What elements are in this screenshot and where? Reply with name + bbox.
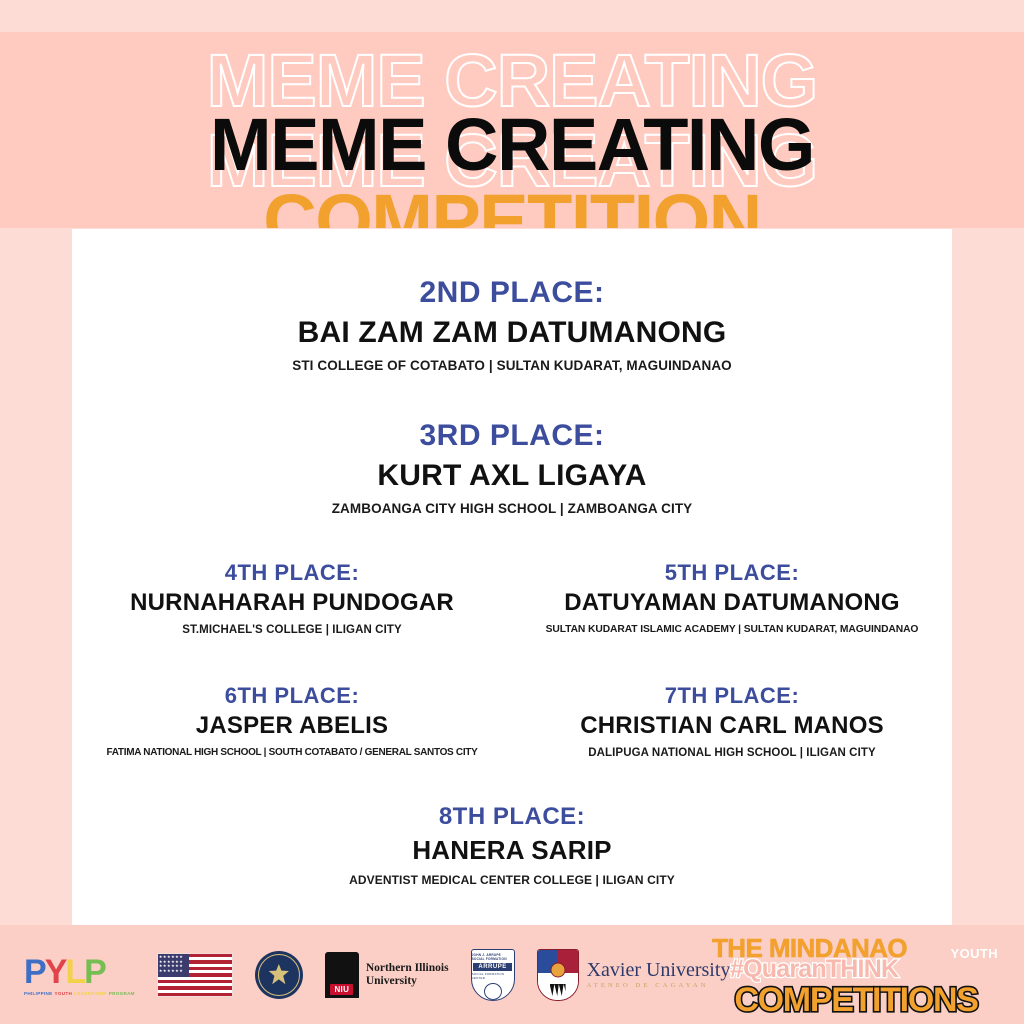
result-row-8th: 8TH PLACE: HANERA SARIP ADVENTIST MEDICA… (72, 804, 952, 888)
rank-label-4th: 4TH PLACE: (72, 561, 512, 584)
pylp-word-program: PROGRAM (109, 991, 135, 996)
winner-school-7th: DALIPUGA NATIONAL HIGH SCHOOL | ILIGAN C… (512, 747, 952, 760)
rank-label-8th: 8TH PLACE: (72, 804, 952, 829)
winner-name-3rd: KURT AXL LIGAYA (72, 459, 952, 492)
result-row-7th: 7TH PLACE: CHRISTIAN CARL MANOS DALIPUGA… (512, 684, 952, 761)
winner-school-6th: FATIMA NATIONAL HIGH SCHOOL | SOUTH COTA… (72, 747, 512, 759)
pylp-letter-p2: P (84, 955, 105, 989)
niu-line2: University (366, 975, 449, 988)
brand-line-quaranthink: #QuaranTHINK (730, 957, 1024, 982)
arrupe-top-text: JOHN J. ARRUPE SOCIAL FORMATION (472, 953, 514, 961)
northern-illinois-university-logo: NIU Northern Illinois University (325, 952, 449, 998)
niu-badge: NIU (330, 984, 353, 995)
pylp-subtitle: PHILIPPINE YOUTH LEADERSHIP PROGRAM (24, 991, 135, 996)
niu-wordmark: Northern Illinois University (366, 962, 449, 988)
niu-line1: Northern Illinois (366, 962, 449, 975)
poster-title-line1: MEME CREATING (0, 108, 1024, 182)
pylp-word-youth: YOUTH (55, 991, 73, 996)
rank-label-6th: 6TH PLACE: (72, 684, 512, 707)
rank-label-7th: 7TH PLACE: (512, 684, 952, 707)
result-row-6th: 6TH PLACE: JASPER ABELIS FATIMA NATIONAL… (72, 684, 512, 759)
result-row-4th: 4TH PLACE: NURNAHARAH PUNDOGAR ST.MICHAE… (72, 561, 512, 638)
result-row-3rd: 3RD PLACE: KURT AXL LIGAYA ZAMBOANGA CIT… (72, 420, 952, 516)
eagle-icon (268, 964, 290, 986)
winner-name-4th: NURNAHARAH PUNDOGAR (72, 590, 512, 616)
winner-name-6th: JASPER ABELIS (72, 713, 512, 739)
arrupe-sub: SOCIAL FORMATION CENTER (472, 972, 514, 980)
result-row-5th: 5TH PLACE: DATUYAMAN DATUMANONG SULTAN K… (512, 561, 952, 636)
xavier-shield-icon (537, 949, 579, 1001)
brand-line-competitions: COMPETITIONS (706, 983, 1006, 1017)
us-flag-canton: ★★★★★★★★★★★★★★★★★★★★★★★★ (158, 954, 189, 977)
rank-label-3rd: 3RD PLACE: (72, 420, 952, 452)
results-panel: 2ND PLACE: BAI ZAM ZAM DATUMANONG STI CO… (72, 229, 952, 925)
arrupe-crest-icon (484, 983, 502, 1000)
pylp-letter-y: Y (45, 955, 66, 989)
header-banner: MEME CREATING MEME CREATING MEME CREATIN… (0, 32, 1024, 228)
pylp-letter-l: L (65, 955, 84, 989)
pylp-letters: P Y L P (24, 955, 105, 989)
winner-name-8th: HANERA SARIP (72, 836, 952, 865)
pylp-word-philippine: PHILIPPINE (24, 991, 53, 996)
winner-name-2nd: BAI ZAM ZAM DATUMANONG (72, 316, 952, 349)
rank-label-5th: 5TH PLACE: (512, 561, 952, 584)
winner-name-7th: CHRISTIAN CARL MANOS (512, 713, 952, 739)
us-flag-icon: ★★★★★★★★★★★★★★★★★★★★★★★★ (157, 953, 233, 997)
campaign-branding: THE MINDANAO YOUTH #QuaranTHINK COMPETIT… (706, 935, 1006, 1017)
us-state-department-seal (255, 951, 303, 999)
winner-school-4th: ST.MICHAEL'S COLLEGE | ILIGAN CITY (72, 624, 512, 637)
winner-name-5th: DATUYAMAN DATUMANONG (512, 590, 952, 616)
pylp-word-leadership: LEADERSHIP (74, 991, 107, 996)
niu-mark-icon: NIU (325, 952, 359, 998)
winner-school-3rd: ZAMBOANGA CITY HIGH SCHOOL | ZAMBOANGA C… (72, 501, 952, 517)
poster-title-line2: COMPETITION (0, 184, 1024, 228)
winner-school-5th: SULTAN KUDARAT ISLAMIC ACADEMY | SULTAN … (512, 624, 952, 636)
result-row-2nd: 2ND PLACE: BAI ZAM ZAM DATUMANONG STI CO… (72, 277, 952, 373)
winner-school-8th: ADVENTIST MEDICAL CENTER COLLEGE | ILIGA… (72, 874, 952, 888)
arrupe-logo: JOHN J. ARRUPE SOCIAL FORMATION ARRUPE S… (471, 949, 515, 1001)
sponsor-logo-strip: P Y L P PHILIPPINE YOUTH LEADERSHIP PROG… (24, 939, 730, 1011)
rank-label-2nd: 2ND PLACE: (72, 277, 952, 309)
pylp-logo: P Y L P PHILIPPINE YOUTH LEADERSHIP PROG… (24, 955, 135, 996)
arrupe-name: ARRUPE (473, 963, 511, 971)
winner-school-2nd: STI COLLEGE OF COTABATO | SULTAN KUDARAT… (72, 358, 952, 374)
footer-bar: P Y L P PHILIPPINE YOUTH LEADERSHIP PROG… (0, 925, 1024, 1024)
xavier-university-logo: Xavier University ATENEO DE CAGAYAN (537, 949, 731, 1001)
pylp-letter-p1: P (24, 955, 45, 989)
